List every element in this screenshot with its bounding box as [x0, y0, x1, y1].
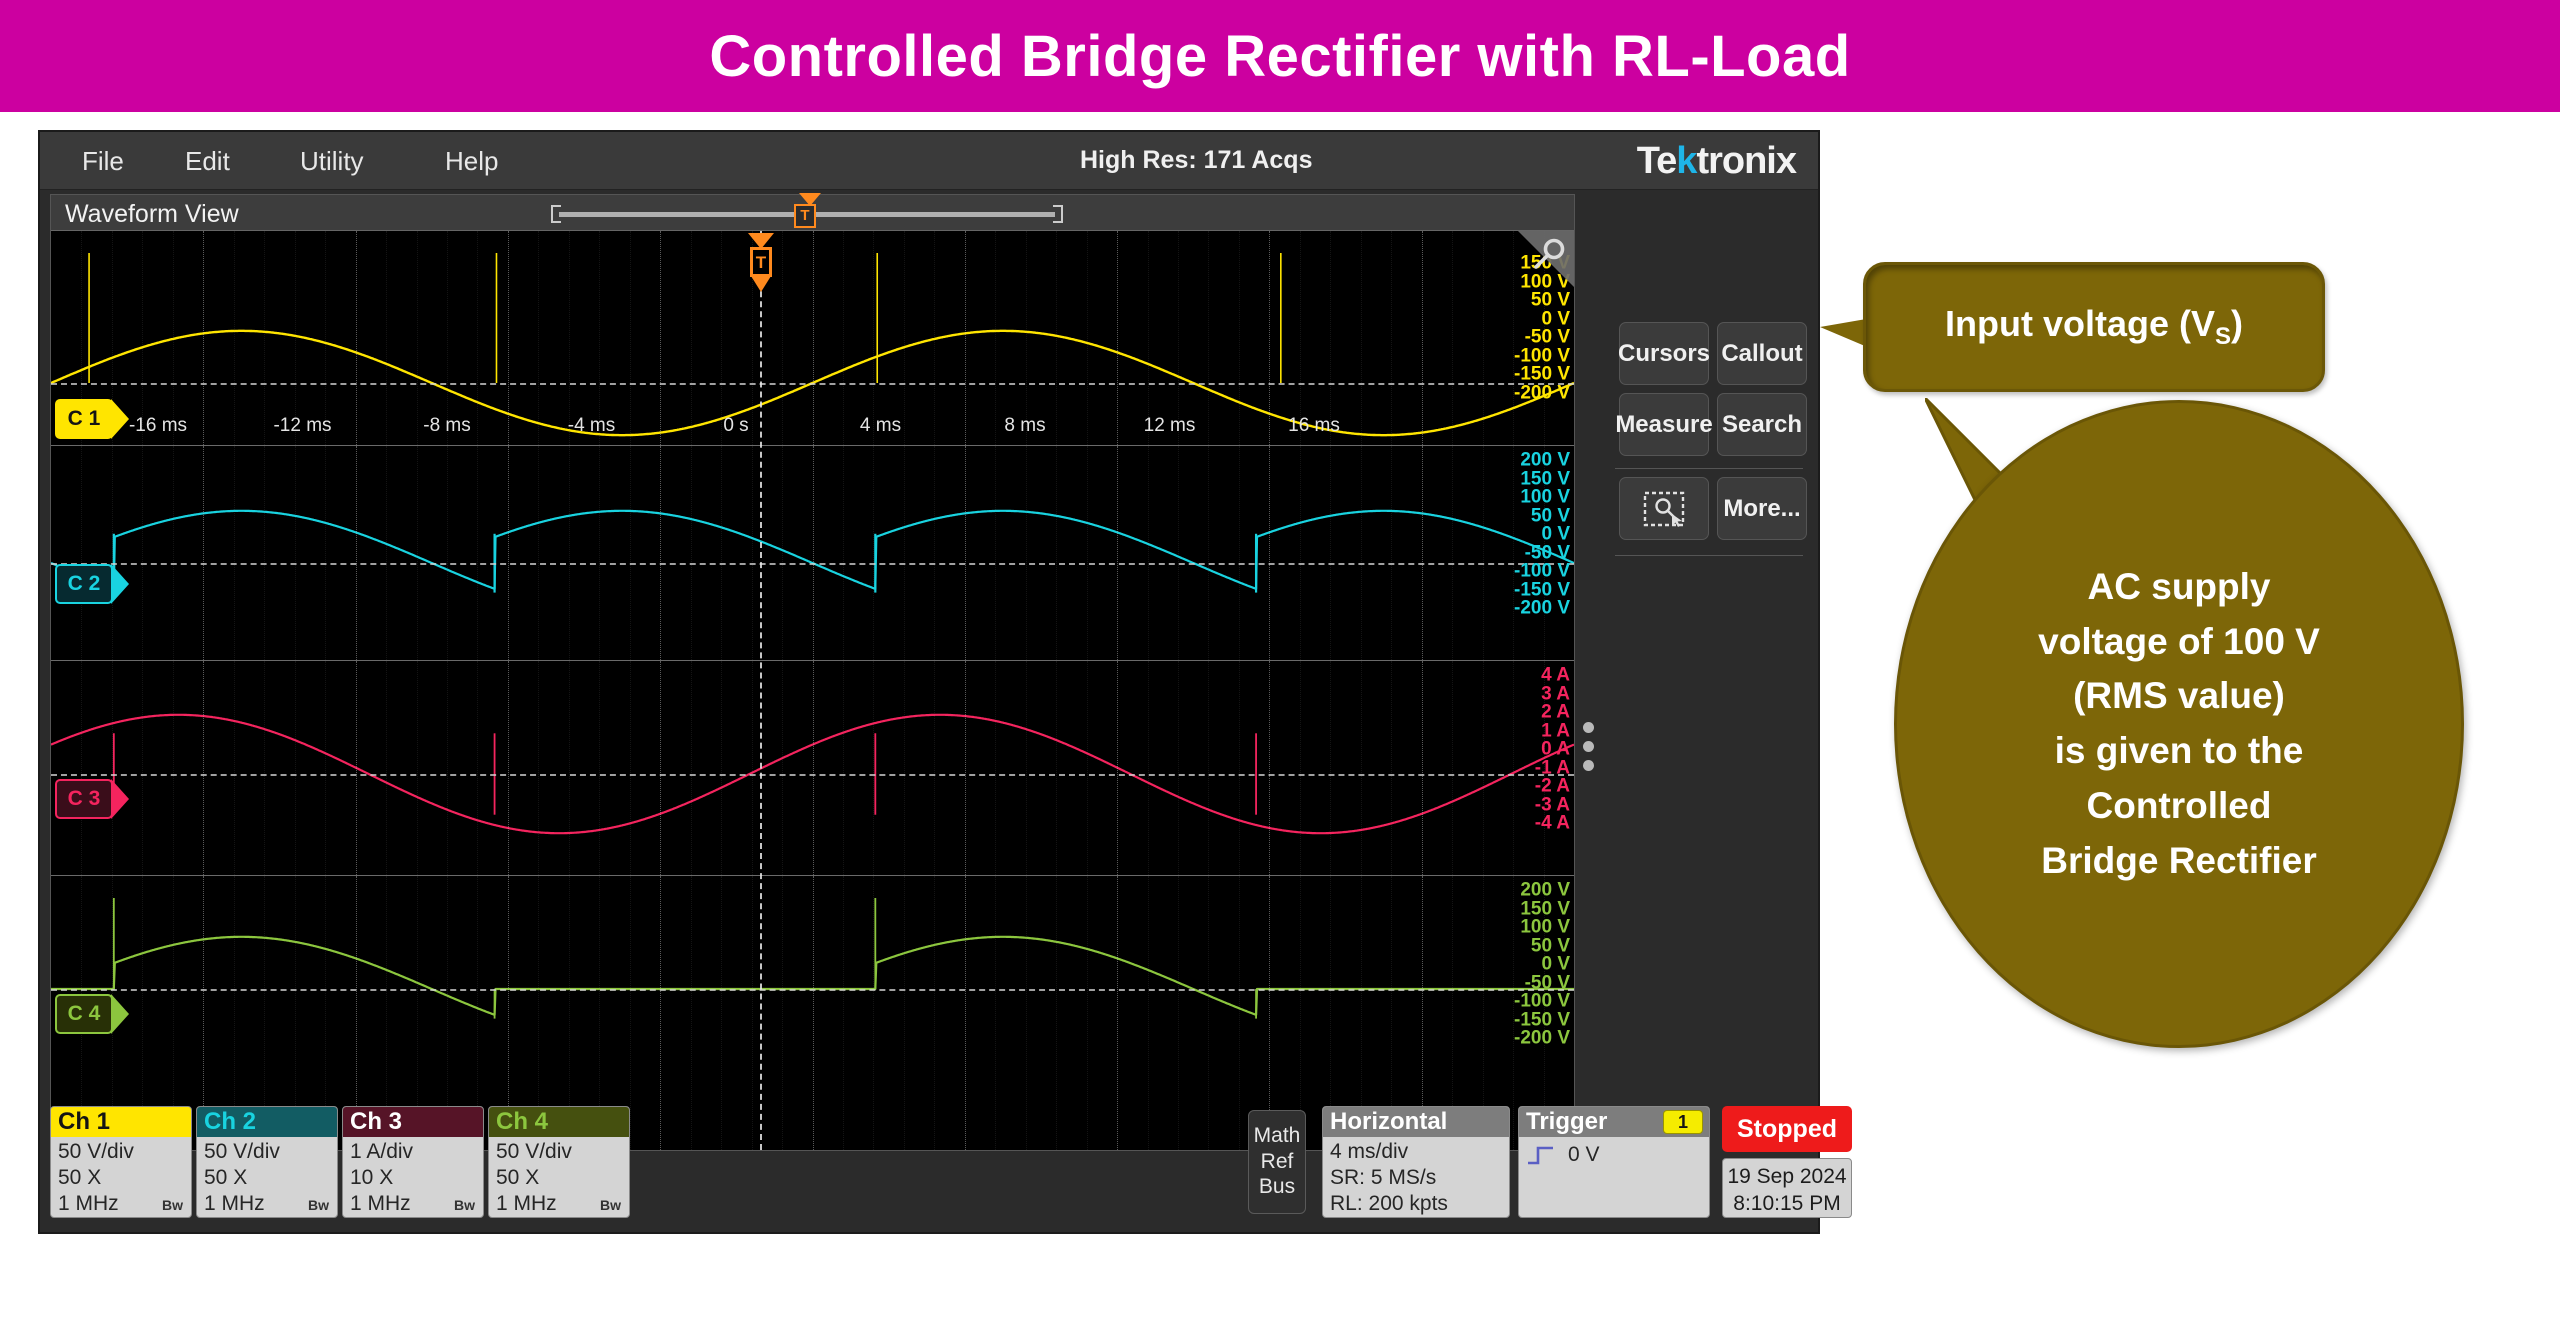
grid-tick [1087, 446, 1088, 660]
time-axis-labels: -16 ms-12 ms-8 ms-4 ms0 s4 ms8 ms12 ms16… [51, 415, 1574, 439]
menu-file[interactable]: File [82, 146, 124, 177]
grid-tick [234, 446, 235, 660]
grid-tick [752, 446, 753, 660]
channel-2-card-body: 50 V/div 50 X 1 MHz Bw [197, 1137, 337, 1216]
grid-tick [1026, 661, 1027, 875]
axis-tick-label: 50 V [1531, 506, 1570, 525]
grid-tick [1208, 661, 1209, 875]
callout-button[interactable]: Callout [1717, 322, 1807, 385]
grid-tick [1056, 231, 1057, 445]
waveform-view-title: Waveform View [65, 200, 239, 229]
page-title: Controlled Bridge Rectifier with RL-Load [709, 23, 1850, 90]
grid-line [660, 231, 661, 445]
date-value: 19 Sep 2024 [1723, 1163, 1851, 1190]
grid-tick [1148, 661, 1149, 875]
grid-tick [1148, 231, 1149, 445]
grid-line [1422, 661, 1423, 875]
axis-tick-label: -100 V [1514, 346, 1570, 365]
grid-tick [173, 231, 174, 445]
time-value: 8:10:15 PM [1723, 1190, 1851, 1217]
grid-tick [904, 231, 905, 445]
axis-tick-label: -150 V [1514, 365, 1570, 384]
logo-post: tronix [1696, 140, 1796, 182]
axis-tick-label: 3 A [1541, 684, 1570, 703]
grid-line [1117, 446, 1118, 660]
cursors-button[interactable]: Cursors [1619, 322, 1709, 385]
grid-tick [569, 661, 570, 875]
callout-post: ) [2231, 303, 2243, 344]
grid-tick [417, 231, 418, 445]
horizontal-card-title: Horizontal [1323, 1107, 1509, 1137]
grid-tick [112, 446, 113, 660]
grid-tick [1300, 231, 1301, 445]
grid-tick [264, 661, 265, 875]
grid-tick [173, 661, 174, 875]
search-button[interactable]: Search [1717, 393, 1807, 456]
channel-4-badge[interactable]: C 4 [55, 994, 113, 1034]
grid-tick [1178, 661, 1179, 875]
grid-tick [1239, 661, 1240, 875]
grid-tick [873, 231, 874, 445]
grid-tick [1361, 661, 1362, 875]
grid-tick [1483, 661, 1484, 875]
grid-tick [1056, 661, 1057, 875]
grid-tick [295, 661, 296, 875]
grid-tick [843, 661, 844, 875]
channel-1-badge[interactable]: C 1 [55, 399, 113, 439]
grid-tick [477, 231, 478, 445]
side-button-column: Cursors Callout Measure Search More... [1615, 322, 1810, 612]
grid-tick [325, 446, 326, 660]
time-tick-label: -8 ms [423, 415, 471, 437]
grid-tick [630, 446, 631, 660]
trigger-card[interactable]: Trigger 1 0 V [1518, 1106, 1710, 1218]
measure-button[interactable]: Measure [1619, 393, 1709, 456]
zoom-area-select-icon [1642, 490, 1686, 528]
channel-1-scale: 50 V/div [58, 1139, 191, 1165]
axis-tick-label: -50 V [1525, 973, 1570, 992]
grid-tick [1208, 231, 1209, 445]
grid-tick [538, 661, 539, 875]
menu-bar: File Edit Utility Help High Res: 171 Acq… [40, 132, 1818, 190]
channel-3-card-body: 1 A/div 10 X 1 MHz Bw [343, 1137, 483, 1216]
channel-2-card[interactable]: Ch 2 50 V/div 50 X 1 MHz Bw [196, 1106, 338, 1218]
grid-tick [1452, 446, 1453, 660]
math-ref-bus-button[interactable]: Math Ref Bus [1248, 1110, 1306, 1214]
grid-tick [630, 231, 631, 445]
axis-tick-label: 1 A [1541, 721, 1570, 740]
axis-tick-label: -200 V [1514, 383, 1570, 402]
logo-k: k [1676, 140, 1696, 182]
grid-tick [721, 446, 722, 660]
grid-tick [325, 661, 326, 875]
grid-tick [904, 446, 905, 660]
axis-tick-label: -2 A [1535, 777, 1570, 796]
trigger-card-body: 0 V [1519, 1137, 1709, 1168]
acquisition-status: High Res: 171 Acqs [1080, 146, 1312, 175]
grid-tick [1239, 231, 1240, 445]
grid-tick [1178, 446, 1179, 660]
time-tick-label: 0 s [723, 415, 748, 437]
grid-tick [538, 231, 539, 445]
zero-reference-line [51, 989, 1574, 991]
grid-line [1422, 446, 1423, 660]
grid-tick [599, 661, 600, 875]
grid-tick [630, 661, 631, 875]
side-divider [1615, 555, 1803, 556]
channel-2-scale: 50 V/div [204, 1139, 337, 1165]
grid-tick [1391, 661, 1392, 875]
grid-tick [295, 446, 296, 660]
axis-tick-label: 150 V [1520, 469, 1570, 488]
grid-tick [1026, 446, 1027, 660]
trigger-level-value: 0 V [1568, 1142, 1600, 1168]
axis-tick-label: 50 V [1531, 936, 1570, 955]
axis-tick-label: -3 A [1535, 795, 1570, 814]
graticule[interactable]: T 150 V100 V50 V0 V-50 V-100 V-150 V-200… [51, 231, 1574, 1150]
axis-tick-label: 100 V [1520, 488, 1570, 507]
axis-tick-label: 0 A [1541, 740, 1570, 759]
axis-tick-label: 2 A [1541, 703, 1570, 722]
grid-line [1117, 661, 1118, 875]
grid-tick [477, 661, 478, 875]
channel-4-card-body: 50 V/div 50 X 1 MHz Bw [489, 1137, 629, 1216]
grid-tick [417, 661, 418, 875]
grid-tick [843, 446, 844, 660]
grid-tick [1330, 661, 1331, 875]
grid-tick [1483, 446, 1484, 660]
time-tick-label: 12 ms [1144, 415, 1196, 437]
grid-tick [599, 231, 600, 445]
grid-line [660, 446, 661, 660]
axis-tick-label: -150 V [1514, 1010, 1570, 1029]
waveform-view-header: Waveform View T [51, 195, 1574, 231]
grid-tick [142, 446, 143, 660]
grid-tick [721, 661, 722, 875]
grid-tick [447, 661, 448, 875]
channel-3-card[interactable]: Ch 3 1 A/div 10 X 1 MHz Bw [342, 1106, 484, 1218]
grid-line [1269, 446, 1270, 660]
grid-tick [1361, 446, 1362, 660]
trigger-position-line [760, 231, 762, 1150]
record-trigger-arrow-icon [799, 193, 821, 206]
axis-tick-label: 0 V [1541, 309, 1570, 328]
channel-3-bw-icon: Bw [454, 1197, 475, 1214]
grid-line [813, 446, 814, 660]
grid-tick [1361, 231, 1362, 445]
trigger-source-chip[interactable]: 1 [1663, 1110, 1703, 1134]
grid-tick [1239, 446, 1240, 660]
grid-line [813, 231, 814, 445]
grid-tick [995, 446, 996, 660]
grid-tick [1513, 661, 1514, 875]
grid-tick [447, 446, 448, 660]
zoom-magnifier-icon[interactable] [1518, 231, 1574, 287]
grid-line [660, 661, 661, 875]
grid-line [1269, 231, 1270, 445]
grid-line [356, 661, 357, 875]
menu-help[interactable]: Help [445, 146, 498, 177]
horizontal-sample-rate: SR: 5 MS/s [1330, 1165, 1509, 1191]
grid-tick [1513, 231, 1514, 445]
channel-2-card-title: Ch 2 [197, 1107, 337, 1137]
grid-tick [1026, 231, 1027, 445]
axis-tick-label: -100 V [1514, 992, 1570, 1011]
grid-tick [1452, 661, 1453, 875]
axis-tick-label: -200 V [1514, 599, 1570, 618]
grid-line [356, 231, 357, 445]
horizontal-scale: 4 ms/div [1330, 1139, 1509, 1165]
time-tick-label: -16 ms [129, 415, 187, 437]
grid-line [1117, 231, 1118, 445]
grid-line [965, 446, 966, 660]
grid-tick [1300, 661, 1301, 875]
horizontal-card-body: 4 ms/div SR: 5 MS/s RL: 200 kpts [1323, 1137, 1509, 1216]
channel-2-bw-icon: Bw [308, 1197, 329, 1214]
grid-line [965, 231, 966, 445]
axis-tick-label: -1 A [1535, 758, 1570, 777]
grid-tick [934, 231, 935, 445]
grid-tick [264, 231, 265, 445]
grid-tick [904, 661, 905, 875]
channel-3-badge[interactable]: C 3 [55, 779, 113, 819]
grid-tick [569, 231, 570, 445]
channel-2-slice[interactable]: 200 V150 V100 V50 V0 V-50 V-100 V-150 V-… [51, 446, 1574, 661]
grid-line [203, 446, 204, 660]
grid-tick [1148, 446, 1149, 660]
rising-edge-icon [1526, 1144, 1556, 1166]
channel-3-atten: 10 X [350, 1165, 483, 1191]
grid-tick [386, 661, 387, 875]
axis-tick-label: 0 V [1541, 955, 1570, 974]
callout-pre: Input voltage (V [1945, 303, 2215, 344]
channel-3-card-title: Ch 3 [343, 1107, 483, 1137]
channel-1-card-title: Ch 1 [51, 1107, 191, 1137]
menu-utility[interactable]: Utility [300, 146, 364, 177]
grid-tick [1056, 446, 1057, 660]
side-divider [1615, 468, 1803, 469]
grid-tick [1178, 231, 1179, 445]
channel-4-card-title: Ch 4 [489, 1107, 629, 1137]
grid-tick [782, 231, 783, 445]
axis-tick-label: -100 V [1514, 562, 1570, 581]
grid-tick [1452, 231, 1453, 445]
axis-tick-label: 4 A [1541, 666, 1570, 685]
callout-sub: S [2215, 323, 2231, 350]
grid-tick [721, 231, 722, 445]
trigger-t-badge: T [750, 247, 772, 277]
record-trigger-badge[interactable]: T [794, 204, 816, 228]
channel-1-card-body: 50 V/div 50 X 1 MHz Bw [51, 1137, 191, 1216]
grid-tick [1513, 446, 1514, 660]
more-button[interactable]: More... [1717, 477, 1807, 540]
grid-line [203, 231, 204, 445]
tektronix-logo: Tektronix [1637, 140, 1796, 183]
trigger-tail-icon [751, 276, 771, 292]
grid-tick [386, 446, 387, 660]
channel-4-scale: 50 V/div [496, 1139, 629, 1165]
grid-tick [934, 661, 935, 875]
panel-resize-handle[interactable] [1583, 722, 1599, 782]
title-banner: Controlled Bridge Rectifier with RL-Load [0, 0, 2560, 112]
horizontal-card[interactable]: Horizontal 4 ms/div SR: 5 MS/s RL: 200 k… [1322, 1106, 1510, 1218]
grid-tick [873, 661, 874, 875]
handle-dot [1583, 741, 1594, 752]
zero-reference-line [51, 383, 1574, 385]
grid-tick [477, 446, 478, 660]
grid-line [1422, 231, 1423, 445]
channel-1-bw-icon: Bw [162, 1197, 183, 1214]
channel-1-card[interactable]: Ch 1 50 V/div 50 X 1 MHz Bw [50, 1106, 192, 1218]
zoom-select-button[interactable] [1619, 477, 1709, 540]
logo-pre: Te [1637, 140, 1677, 182]
grid-tick [1391, 446, 1392, 660]
axis-tick-label: -50 V [1525, 328, 1570, 347]
grid-tick [1208, 446, 1209, 660]
grid-tick [1330, 446, 1331, 660]
handle-dot [1583, 760, 1594, 771]
axis-tick-label: 200 V [1520, 881, 1570, 900]
grid-tick [1300, 446, 1301, 660]
axis-tick-label: 0 V [1541, 525, 1570, 544]
horizontal-record-length: RL: 200 kpts [1330, 1191, 1509, 1217]
explanation-bubble-text: AC supply voltage of 100 V (RMS value) i… [1982, 560, 2376, 889]
explanation-bubble-callout: AC supply voltage of 100 V (RMS value) i… [1894, 400, 2464, 1048]
input-voltage-callout-text: Input voltage (VS) [1945, 303, 2243, 351]
axis-tick-label: 200 V [1520, 451, 1570, 470]
grid-tick [1087, 661, 1088, 875]
bracket-right [1053, 205, 1063, 223]
channel-1-atten: 50 X [58, 1165, 191, 1191]
grid-tick [843, 231, 844, 445]
grid-tick [995, 661, 996, 875]
grid-tick [234, 661, 235, 875]
channel-1-slice[interactable]: 150 V100 V50 V0 V-50 V-100 V-150 V-200 V… [51, 231, 1574, 446]
grid-tick [386, 231, 387, 445]
channel-4-bw-icon: Bw [600, 1197, 621, 1214]
grid-tick [599, 446, 600, 660]
grid-tick [264, 446, 265, 660]
grid-tick [81, 661, 82, 875]
time-tick-label: 16 ms [1288, 415, 1340, 437]
grid-line [356, 446, 357, 660]
trigger-title-text: Trigger [1526, 1108, 1607, 1135]
run-state-badge[interactable]: Stopped [1722, 1106, 1852, 1152]
channel-3-slice[interactable]: 4 A3 A2 A1 A0 A-1 A-2 A-3 A-4 A C 3 [51, 661, 1574, 876]
axis-tick-label: 50 V [1531, 291, 1570, 310]
time-tick-label: -12 ms [273, 415, 331, 437]
grid-tick [1087, 231, 1088, 445]
date-time-display: 19 Sep 2024 8:10:15 PM [1722, 1158, 1852, 1218]
grid-line [508, 231, 509, 445]
grid-tick [691, 446, 692, 660]
zero-reference-line [51, 774, 1574, 776]
axis-tick-label: -200 V [1514, 1029, 1570, 1048]
grid-tick [173, 446, 174, 660]
waveform-view-panel: Waveform View T T 150 V100 V50 V0 V-50 V… [50, 194, 1575, 1151]
time-tick-label: 8 ms [1004, 415, 1045, 437]
grid-tick [234, 231, 235, 445]
grid-tick [995, 231, 996, 445]
grid-tick [691, 231, 692, 445]
zero-reference-line [51, 563, 1574, 565]
grid-tick [782, 446, 783, 660]
menu-edit[interactable]: Edit [185, 146, 230, 177]
trigger-level-row: 0 V [1526, 1139, 1709, 1168]
grid-tick [873, 446, 874, 660]
channel-2-badge[interactable]: C 2 [55, 564, 113, 604]
axis-tick-label: 150 V [1520, 899, 1570, 918]
grid-tick [142, 661, 143, 875]
grid-line [508, 661, 509, 875]
axis-tick-label: -150 V [1514, 580, 1570, 599]
axis-tick-label: -4 A [1535, 814, 1570, 833]
grid-line [1269, 661, 1270, 875]
grid-tick [295, 231, 296, 445]
grid-tick [447, 231, 448, 445]
input-voltage-callout: Input voltage (VS) [1863, 262, 2325, 392]
record-view-bracket[interactable]: T [551, 205, 1063, 223]
time-tick-label: -4 ms [568, 415, 616, 437]
trigger-marker-icon[interactable]: T [747, 233, 775, 295]
oscilloscope-window: File Edit Utility Help High Res: 171 Acq… [38, 130, 1820, 1234]
time-tick-label: 4 ms [860, 415, 901, 437]
grid-tick [691, 661, 692, 875]
channel-2-atten: 50 X [204, 1165, 337, 1191]
trigger-card-title: Trigger 1 [1519, 1107, 1709, 1137]
handle-dot [1583, 722, 1594, 733]
grid-tick [142, 231, 143, 445]
channel-3-scale: 1 A/div [350, 1139, 483, 1165]
grid-line [508, 446, 509, 660]
grid-line [813, 661, 814, 875]
grid-tick [569, 446, 570, 660]
axis-tick-label: -50 V [1525, 543, 1570, 562]
grid-tick [782, 661, 783, 875]
grid-tick [1391, 231, 1392, 445]
grid-tick [325, 231, 326, 445]
grid-tick [934, 446, 935, 660]
grid-tick [752, 661, 753, 875]
channel-4-card[interactable]: Ch 4 50 V/div 50 X 1 MHz Bw [488, 1106, 630, 1218]
channel-4-atten: 50 X [496, 1165, 629, 1191]
grid-tick [538, 446, 539, 660]
grid-tick [112, 661, 113, 875]
grid-tick [1330, 231, 1331, 445]
grid-line [203, 661, 204, 875]
grid-tick [81, 446, 82, 660]
grid-line [965, 661, 966, 875]
grid-tick [417, 446, 418, 660]
grid-tick [1483, 231, 1484, 445]
axis-tick-label: 100 V [1520, 918, 1570, 937]
settings-bar: Ch 1 50 V/div 50 X 1 MHz Bw Ch 2 50 V/di… [50, 1106, 1810, 1224]
